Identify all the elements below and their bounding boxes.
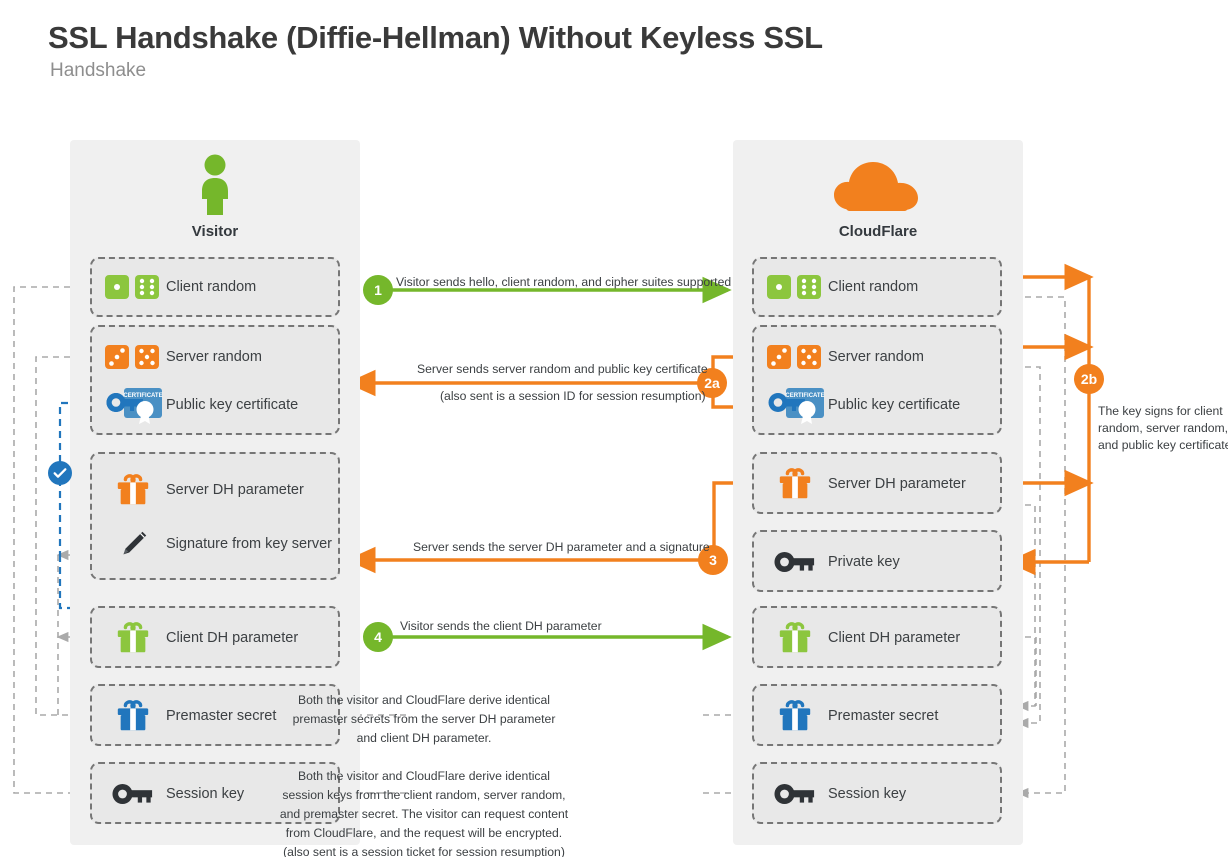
gift-green-icon: [100, 618, 166, 658]
page-title: SSL Handshake (Diffie-Hellman) Without K…: [48, 20, 823, 56]
step-1-caption: Visitor sends hello, client random, and …: [396, 273, 731, 292]
item-label: Client random: [828, 279, 918, 295]
dice-green-icon: [100, 267, 166, 307]
visitor-box-client-random[interactable]: Client random: [90, 257, 340, 317]
gift-orange-icon: [762, 464, 828, 504]
session-note-line3: and premaster secret. The visitor can re…: [280, 805, 568, 824]
cloudflare-box-private-key[interactable]: Private key: [752, 530, 1002, 592]
item-label: Premaster secret: [828, 708, 938, 724]
cloudflare-item-public-key-certificate: CERTIFICATE Public key certificate: [754, 377, 1004, 433]
gift-blue-icon: [762, 696, 828, 736]
cloudflare-box-premaster[interactable]: Premaster secret: [752, 684, 1002, 746]
item-label: Client DH parameter: [828, 630, 960, 646]
gift-green-icon: [762, 618, 828, 658]
pencil-icon: [100, 524, 166, 564]
item-label: Client random: [166, 279, 256, 295]
certificate-label: CERTIFICATE: [123, 393, 162, 399]
item-label: Signature from key server: [166, 536, 332, 552]
certificate-label: CERTIFICATE: [785, 393, 824, 399]
cloud-icon: [832, 156, 924, 216]
key-dark-icon: [762, 774, 828, 814]
visitor-item-signature: Signature from key server: [92, 516, 342, 572]
step-2b-caption-line3: and public key certificate: [1098, 436, 1228, 455]
item-label: Session key: [828, 786, 906, 802]
session-note-line4: from CloudFlare, and the request will be…: [286, 824, 562, 843]
item-label: Server DH parameter: [166, 482, 304, 498]
cloudflare-item-premaster-secret: Premaster secret: [754, 688, 1004, 744]
session-note-line1: Both the visitor and CloudFlare derive i…: [298, 767, 550, 786]
visitor-item-client-random: Client random: [92, 259, 342, 315]
visitor-label: Visitor: [70, 223, 360, 240]
step-badge-1[interactable]: 1: [363, 275, 393, 305]
page-subtitle: Handshake: [50, 60, 146, 82]
cloudflare-label: CloudFlare: [733, 223, 1023, 240]
session-note-line2: session keys from the client random, ser…: [282, 786, 565, 805]
premaster-note-line2: premaster secrets from the server DH par…: [293, 710, 556, 729]
cloudflare-item-server-dh-parameter: Server DH parameter: [754, 456, 1004, 512]
cloudflare-box-client-random[interactable]: Client random: [752, 257, 1002, 317]
item-label: Server random: [166, 349, 262, 365]
visitor-item-server-dh-parameter: Server DH parameter: [92, 462, 342, 518]
dice-orange-icon: [762, 337, 828, 377]
item-label: Server random: [828, 349, 924, 365]
cloudflare-item-client-random: Client random: [754, 259, 1004, 315]
visitor-header: Visitor: [70, 140, 360, 240]
person-icon: [192, 154, 238, 216]
gift-orange-icon: [100, 470, 166, 510]
certificate-icon: CERTIFICATE: [762, 385, 828, 425]
item-label: Session key: [166, 786, 244, 802]
cloudflare-box-client-dh[interactable]: Client DH parameter: [752, 606, 1002, 668]
item-label: Premaster secret: [166, 708, 276, 724]
gift-blue-icon: [100, 696, 166, 736]
visitor-box-client-dh[interactable]: Client DH parameter: [90, 606, 340, 668]
item-label: Public key certificate: [166, 397, 298, 413]
step-badge-2b[interactable]: 2b: [1074, 364, 1104, 394]
step-3-caption: Server sends the server DH parameter and…: [413, 538, 710, 557]
premaster-note-line3: and client DH parameter.: [357, 729, 492, 748]
cloudflare-box-session-key[interactable]: Session key: [752, 762, 1002, 824]
item-label: Client DH parameter: [166, 630, 298, 646]
dice-green-icon: [762, 267, 828, 307]
item-label: Server DH parameter: [828, 476, 966, 492]
cloudflare-item-private-key: Private key: [754, 534, 1004, 590]
cloudflare-header: CloudFlare: [733, 140, 1023, 240]
cloudflare-box-server-dh[interactable]: Server DH parameter: [752, 452, 1002, 514]
session-note-line5: (also sent is a session ticket for sessi…: [283, 843, 565, 857]
cloudflare-item-client-dh-parameter: Client DH parameter: [754, 610, 1004, 666]
certificate-icon: CERTIFICATE: [100, 385, 166, 425]
step-2a-caption-line1: Server sends server random and public ke…: [417, 360, 708, 379]
step-2a-caption-line2: (also sent is a session ID for session r…: [440, 387, 706, 406]
step-4-caption: Visitor sends the client DH parameter: [400, 617, 602, 636]
cloudflare-item-session-key: Session key: [754, 766, 1004, 822]
key-dark-icon: [762, 542, 828, 582]
dice-orange-icon: [100, 337, 166, 377]
cloudflare-box-server-random-cert[interactable]: Server random CERTIFICATE Public key cer…: [752, 325, 1002, 435]
item-label: Private key: [828, 554, 900, 570]
visitor-item-public-key-certificate: CERTIFICATE Public key certificate: [92, 377, 342, 433]
visitor-box-dh-signature[interactable]: Server DH parameter Signature from key s…: [90, 452, 340, 580]
visitor-item-client-dh-parameter: Client DH parameter: [92, 610, 342, 666]
visitor-box-server-random-cert[interactable]: Server random CERTIFICATE Public: [90, 325, 340, 435]
premaster-note-line1: Both the visitor and CloudFlare derive i…: [298, 691, 550, 710]
verification-check-icon: [48, 461, 72, 485]
item-label: Public key certificate: [828, 397, 960, 413]
diagram-canvas: SSL Handshake (Diffie-Hellman) Without K…: [0, 0, 1228, 857]
step-badge-4[interactable]: 4: [363, 622, 393, 652]
key-dark-icon: [100, 774, 166, 814]
